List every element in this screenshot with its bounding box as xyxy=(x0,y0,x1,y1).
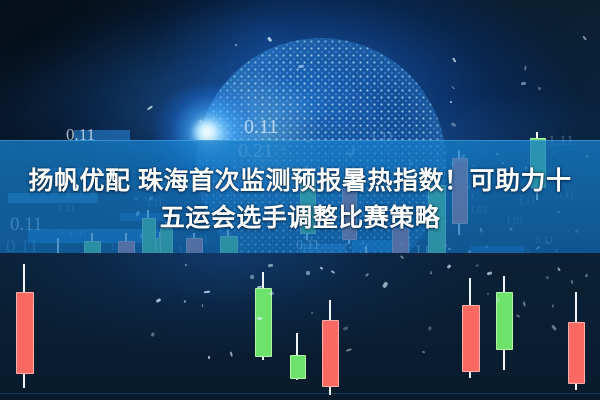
candle-body xyxy=(496,292,513,350)
candlestick xyxy=(462,278,478,378)
candlestick xyxy=(496,276,511,370)
candle-body xyxy=(322,320,339,387)
candlestick xyxy=(568,292,583,390)
bottom-hairline xyxy=(0,393,600,394)
candlestick xyxy=(290,333,304,380)
candle-body xyxy=(290,355,306,379)
candlestick xyxy=(16,264,32,388)
candle-body xyxy=(462,305,480,372)
headline-line-1: 扬帆优配 珠海首次监测预报暑热指数！可助力十 xyxy=(0,163,600,200)
candle-body xyxy=(255,288,272,357)
page-title: 扬帆优配 珠海首次监测预报暑热指数！可助力十 五运会选手调整比赛策略 xyxy=(0,163,600,237)
candle-body xyxy=(16,292,34,374)
candlestick xyxy=(322,300,337,395)
candlestick xyxy=(255,272,270,360)
hero-banner: 0.110.110.111.011.011.011.010.211.110.11… xyxy=(0,0,600,400)
candle-body xyxy=(568,322,585,384)
headline-line-2: 五运会选手调整比赛策略 xyxy=(0,200,600,237)
